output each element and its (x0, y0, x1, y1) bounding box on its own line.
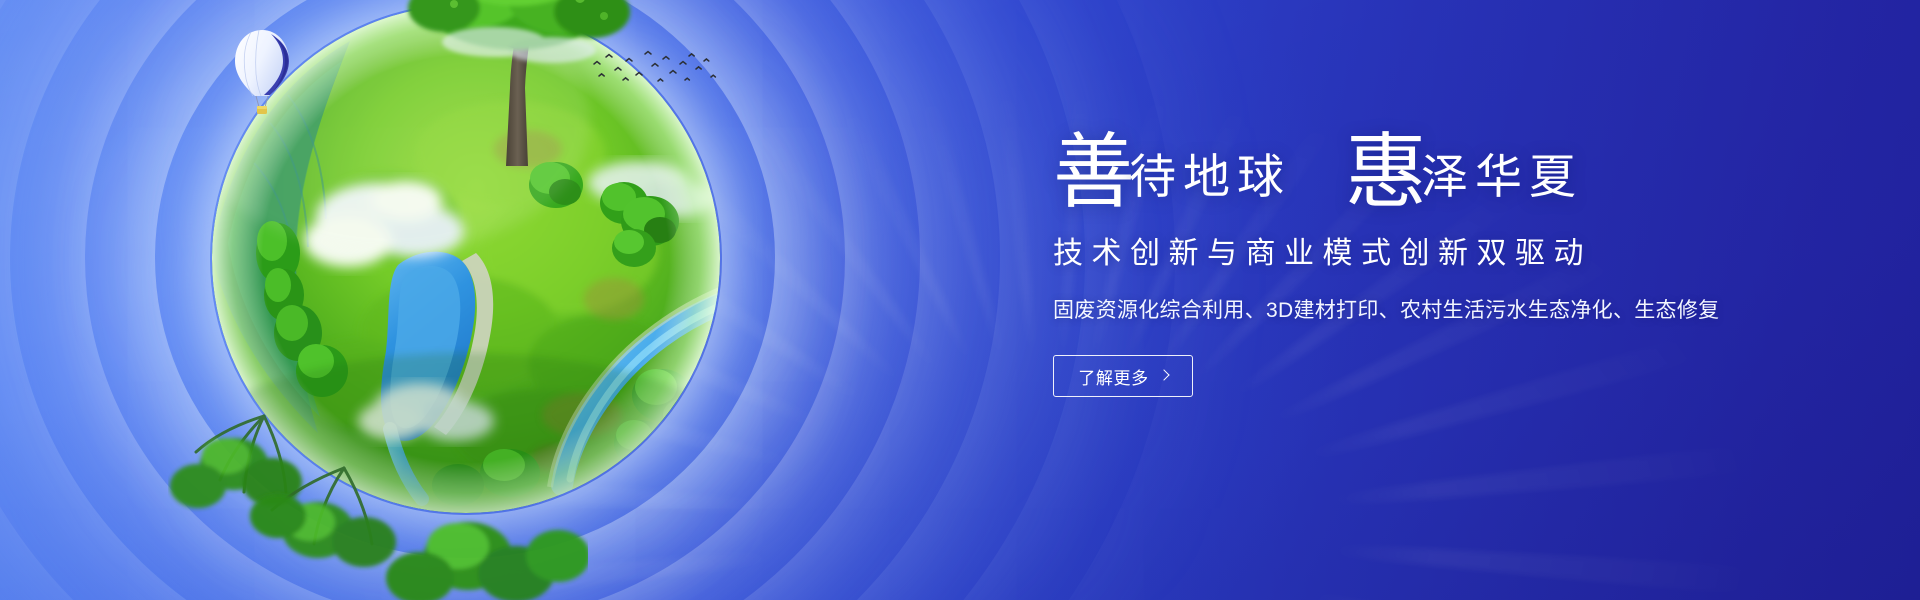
earth-globe-image (210, 3, 722, 515)
page-title: 善 待地球 惠 泽华夏 (1053, 126, 1813, 208)
learn-more-label: 了解更多 (1078, 364, 1148, 389)
headline-text-zehuaxia: 泽华夏 (1421, 155, 1583, 202)
hero-subtitle: 技术创新与商业模式创新双驱动 (1053, 228, 1813, 272)
headline-char-hui: 惠 (1345, 132, 1427, 214)
hero-banner: 善 待地球 惠 泽华夏 技术创新与商业模式创新双驱动 固废资源化综合利用、3D建… (0, 0, 1920, 600)
hero-copy-block: 善 待地球 惠 泽华夏 技术创新与商业模式创新双驱动 固废资源化综合利用、3D建… (1053, 126, 1813, 397)
learn-more-button[interactable]: 了解更多 (1053, 355, 1193, 397)
headline-text-daidiqiu: 待地球 (1129, 155, 1291, 202)
headline-char-shan: 善 (1053, 132, 1135, 214)
hero-detail-text: 固废资源化综合利用、3D建材打印、农村生活污水生态净化、生态修复 (1053, 294, 1813, 324)
chevron-right-icon (1158, 369, 1169, 380)
